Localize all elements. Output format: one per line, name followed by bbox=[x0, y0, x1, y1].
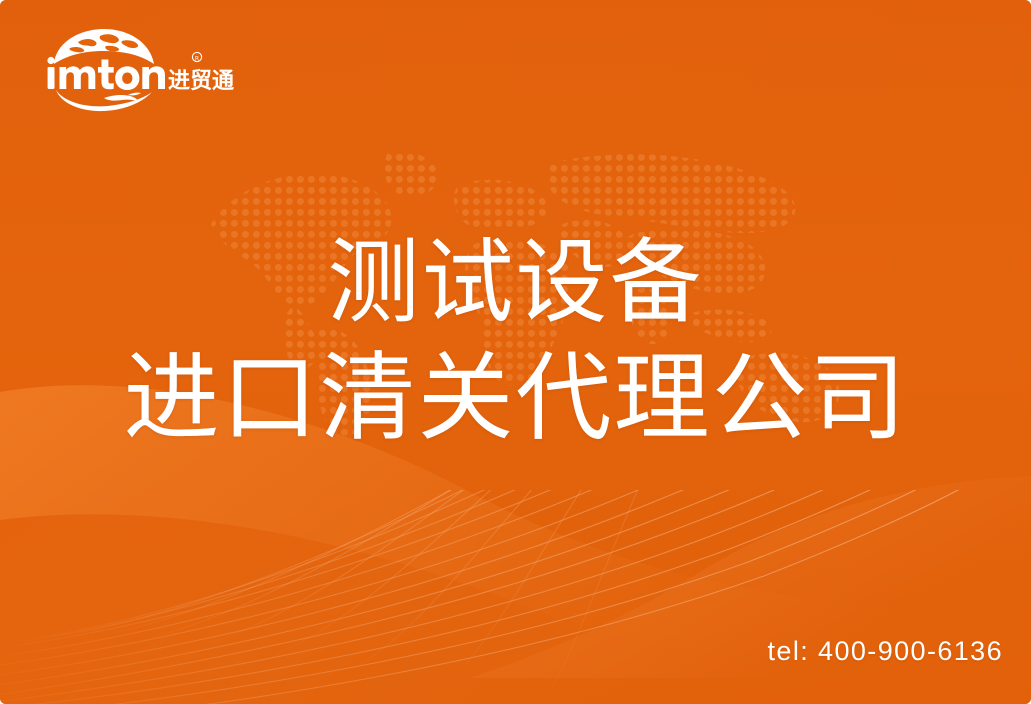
brand-logo[interactable]: 进贸通 R bbox=[42, 26, 222, 106]
contact-telephone[interactable]: tel: 400-900-6136 bbox=[768, 636, 1003, 667]
headline-line-2: 进口清关代理公司 bbox=[0, 345, 1031, 453]
promo-banner: 进贸通 R 测试设备 进口清关代理公司 tel: 400-900-6136 bbox=[0, 0, 1031, 704]
headline: 测试设备 进口清关代理公司 bbox=[0, 232, 1031, 453]
svg-text:R: R bbox=[195, 55, 199, 62]
logo-chinese-name: 进贸通 bbox=[168, 69, 234, 94]
trademark-symbol: R bbox=[192, 52, 201, 62]
globe-dome-icon bbox=[54, 29, 154, 64]
wordmark-imton bbox=[47, 57, 165, 90]
headline-line-1: 测试设备 bbox=[0, 232, 1031, 335]
